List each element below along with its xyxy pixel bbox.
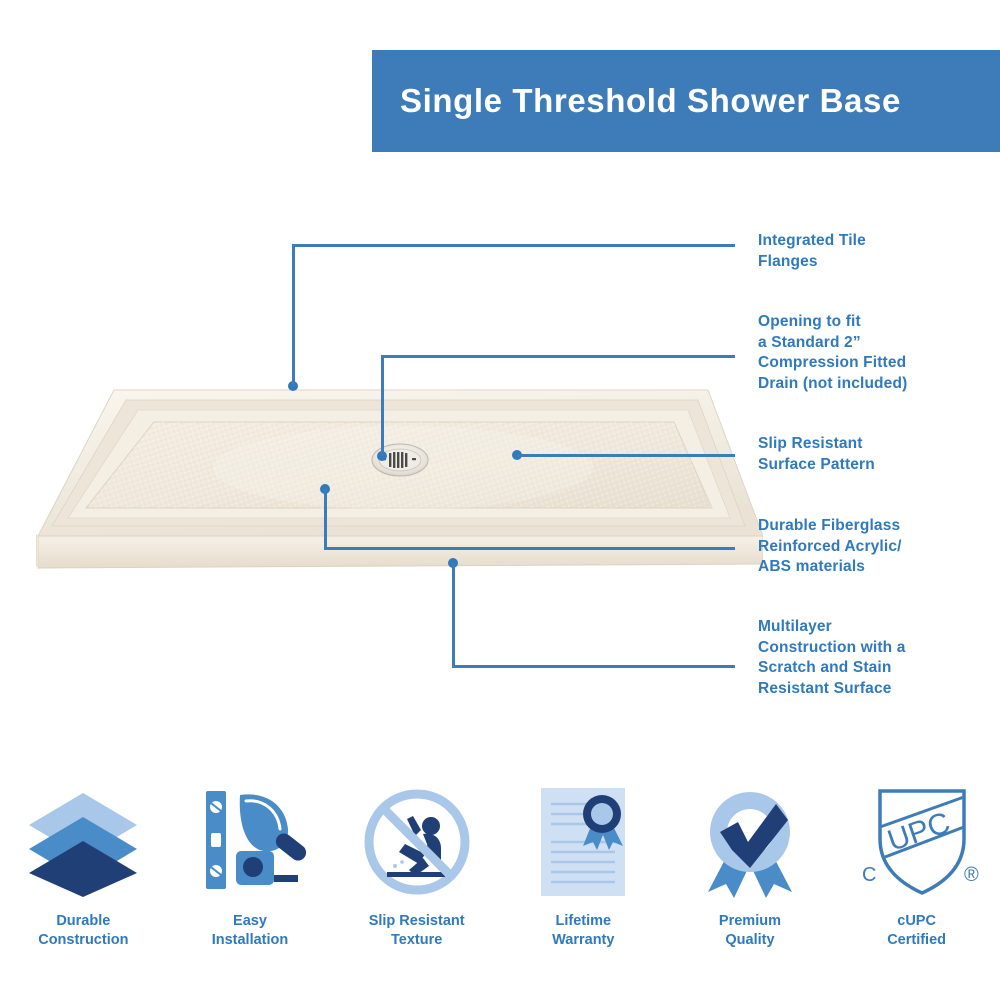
leader-line-multilayer-construction-horizontal [452,665,735,668]
infographic-canvas: Single Threshold Shower Base [0,0,1000,1000]
feature-label-premium-quality: Premium Quality [719,912,781,950]
feature-lifetime-warranty: Lifetime Warranty [503,782,663,950]
feature-label-slip-resistant-texture: Slip Resistant Texture [369,912,465,950]
leader-line-durable-materials-horizontal [324,547,735,550]
level-and-trowel-icon [190,782,310,902]
feature-cupc-certified: UPC C ® cUPC Certified [837,782,997,950]
leader-line-drain-opening-vertical [381,355,384,456]
upc-monogram: UPC [883,806,954,858]
feature-slip-resistant-texture: Slip Resistant Texture [337,782,497,950]
check-rosette-icon [694,782,806,902]
callout-integrated-tile-flanges: Integrated Tile Flanges [758,231,866,272]
feature-strip: Durable Construction [0,782,1000,982]
feature-label-durable-construction: Durable Construction [38,912,128,950]
leader-line-drain-opening-horizontal [381,355,735,358]
upc-registered-mark: ® [964,864,979,886]
leader-line-multilayer-construction-vertical [452,563,455,668]
upc-c-mark: C [862,864,876,886]
feature-label-easy-installation: Easy Installation [212,912,289,950]
certificate-seal-icon [531,782,635,902]
product-illustration [18,368,763,603]
callout-drain-opening: Opening to fit a Standard 2” Compression… [758,312,907,394]
feature-easy-installation: Easy Installation [170,782,330,950]
feature-durable-construction: Durable Construction [3,782,163,950]
feature-premium-quality: Premium Quality [670,782,830,950]
leader-line-durable-materials-vertical [324,489,327,550]
feature-label-lifetime-warranty: Lifetime Warranty [552,912,614,950]
no-slip-icon [361,782,473,902]
leader-line-slip-resistant-surface [517,454,735,457]
leader-line-integrated-tile-flanges-vertical [292,244,295,386]
stacked-layers-icon [23,782,143,902]
callout-slip-resistant-surface: Slip Resistant Surface Pattern [758,434,875,475]
leader-line-integrated-tile-flanges-horizontal [292,244,735,247]
title-banner: Single Threshold Shower Base [372,50,1000,152]
callout-multilayer-construction: Multilayer Construction with a Scratch a… [758,617,906,699]
upc-shield-icon: UPC C ® [852,782,982,902]
callout-durable-materials: Durable Fiberglass Reinforced Acrylic/ A… [758,516,902,578]
page-title: Single Threshold Shower Base [372,82,901,120]
feature-label-cupc-certified: cUPC Certified [887,912,946,950]
